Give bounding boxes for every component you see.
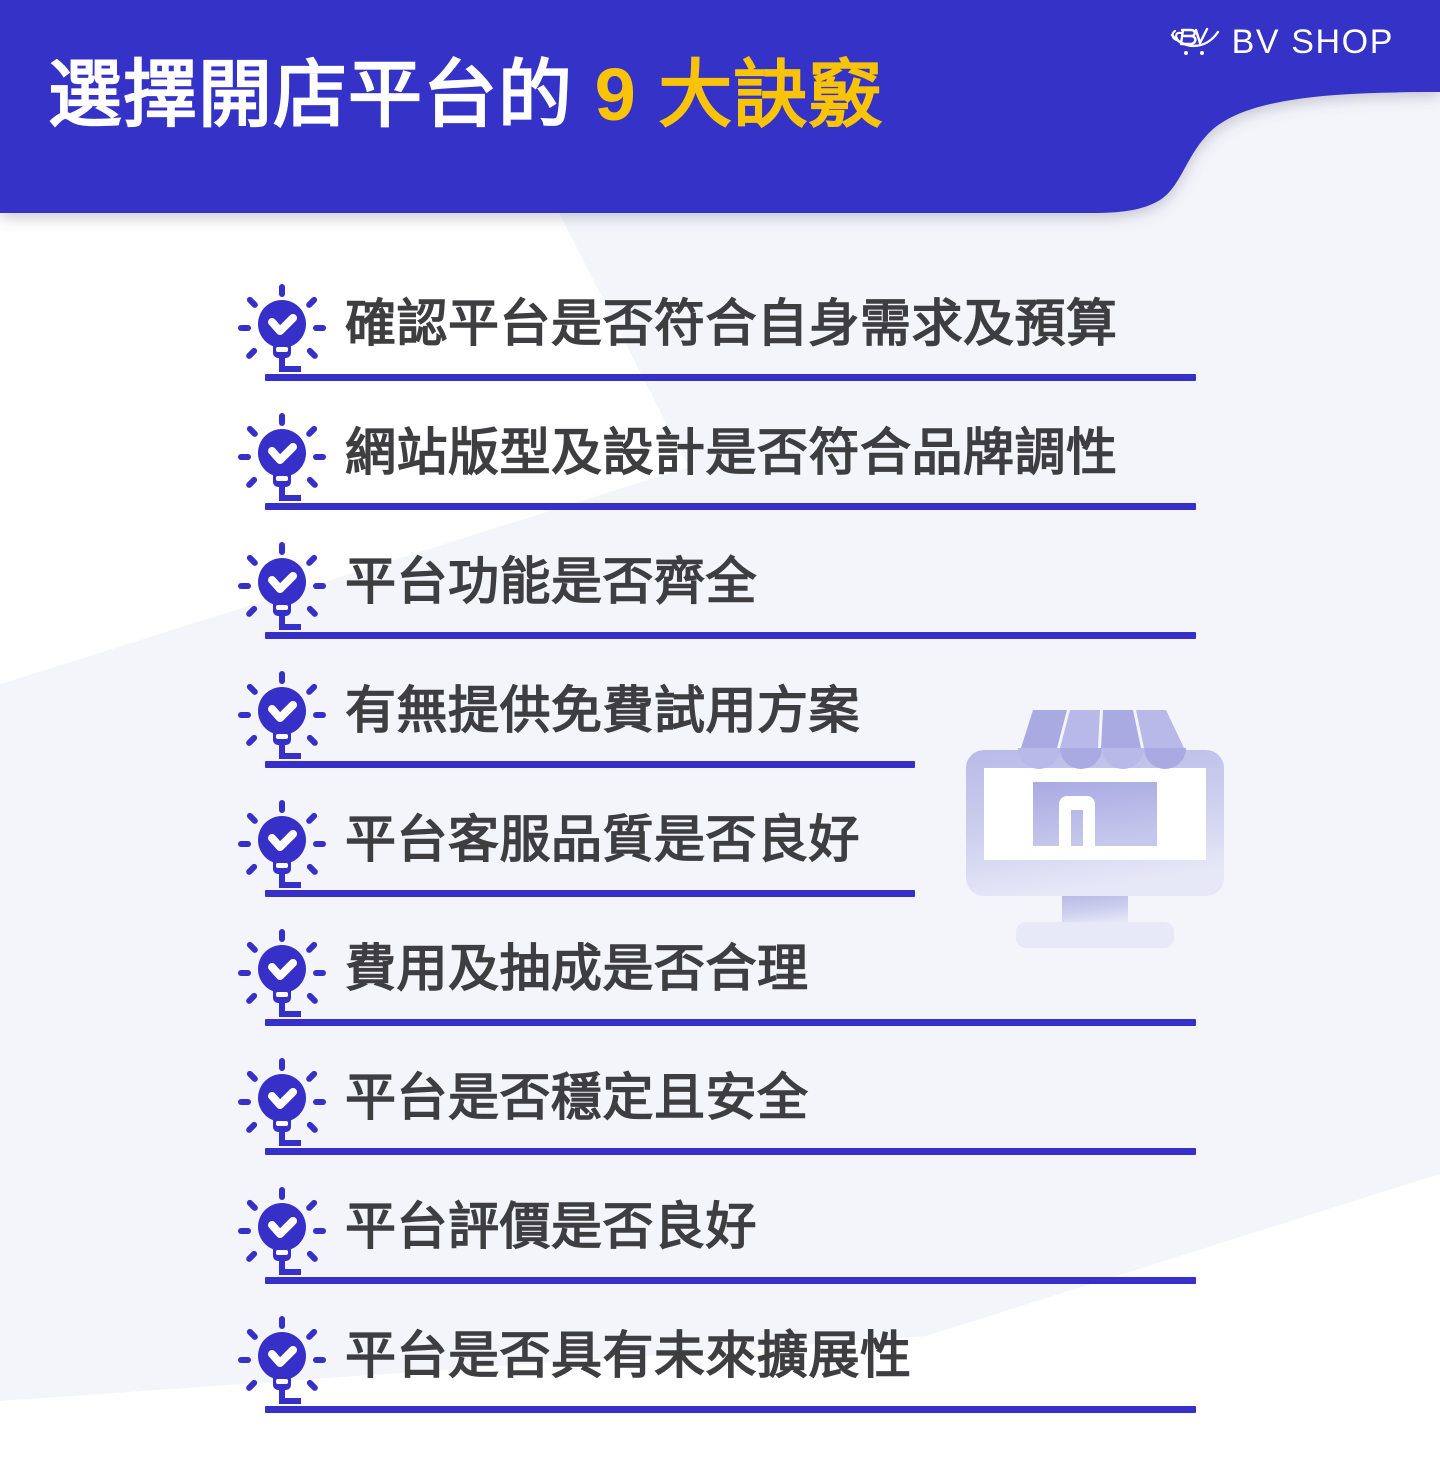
list-item-label: 有無提供免費試用方案: [345, 676, 860, 746]
page-title: 選擇開店平台的 9 大訣竅: [48, 52, 883, 138]
lightbulb-check-icon: [236, 669, 328, 761]
list-item-rule: [265, 890, 915, 897]
lightbulb-check-icon: [236, 1185, 328, 1277]
list-item-label: 網站版型及設計是否符合品牌調性: [345, 418, 1118, 488]
list-item-rule: [265, 1406, 1196, 1413]
list-item: 有無提供免費試用方案: [0, 663, 1440, 792]
header-banner: 選擇開店平台的 9 大訣竅 BV SHOP: [0, 0, 1440, 214]
list-item-rule: [265, 503, 1196, 510]
lightbulb-check-icon: [236, 1314, 328, 1406]
list-item: 網站版型及設計是否符合品牌調性: [0, 405, 1440, 534]
bv-cart-logo-icon: [1169, 22, 1221, 62]
list-item-rule: [265, 761, 915, 768]
list-item-label: 確認平台是否符合自身需求及預算: [345, 289, 1118, 359]
page-title-main: 選擇開店平台的: [48, 53, 595, 136]
list-item: 費用及抽成是否合理: [0, 921, 1440, 1050]
list-item-rule: [265, 632, 1196, 639]
list-item: 確認平台是否符合自身需求及預算: [0, 276, 1440, 405]
lightbulb-check-icon: [236, 1056, 328, 1148]
lightbulb-check-icon: [236, 927, 328, 1019]
list-item: 平台是否具有未來擴展性: [0, 1308, 1440, 1437]
brand-name: BV SHOP: [1232, 22, 1394, 62]
list-item-rule: [265, 1019, 1196, 1026]
lightbulb-check-icon: [236, 282, 328, 374]
list-item-rule: [265, 1277, 1196, 1284]
list-item: 平台評價是否良好: [0, 1179, 1440, 1308]
lightbulb-check-icon: [236, 798, 328, 890]
brand-logo: BV SHOP: [1169, 22, 1394, 62]
list-item-rule: [265, 374, 1196, 381]
list-item-label: 平台是否具有未來擴展性: [345, 1321, 912, 1391]
list-item-label: 平台功能是否齊全: [345, 547, 757, 617]
list-item: 平台功能是否齊全: [0, 534, 1440, 663]
page-title-highlight: 9 大訣竅: [595, 53, 884, 136]
list-item: 平台客服品質是否良好: [0, 792, 1440, 921]
lightbulb-check-icon: [236, 540, 328, 632]
lightbulb-check-icon: [236, 411, 328, 503]
checklist: 確認平台是否符合自身需求及預算 網站版型及設計是否符合品牌調性: [0, 276, 1440, 1437]
list-item-label: 平台評價是否良好: [345, 1192, 757, 1262]
list-item-label: 平台客服品質是否良好: [345, 805, 860, 875]
list-item: 平台是否穩定且安全: [0, 1050, 1440, 1179]
list-item-rule: [265, 1148, 1196, 1155]
list-item-label: 平台是否穩定且安全: [345, 1063, 809, 1133]
list-item-label: 費用及抽成是否合理: [345, 934, 809, 1004]
